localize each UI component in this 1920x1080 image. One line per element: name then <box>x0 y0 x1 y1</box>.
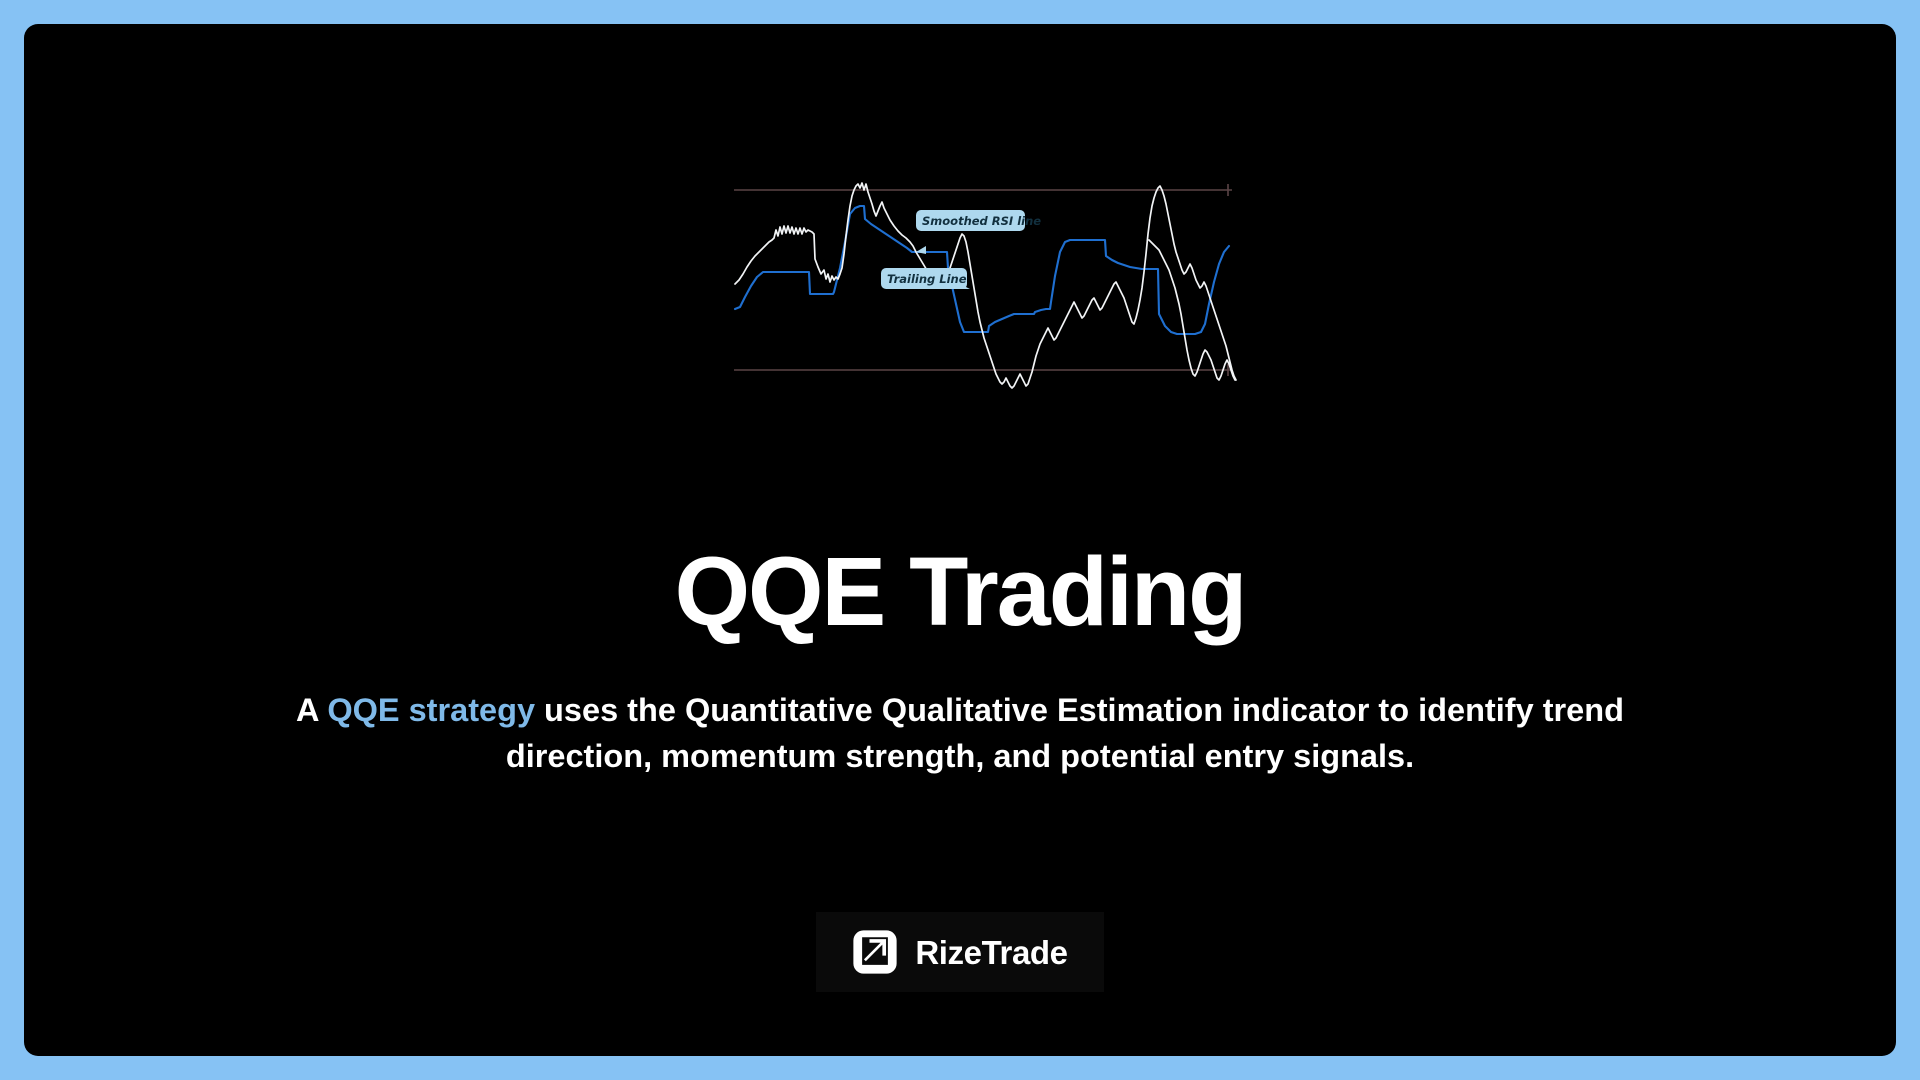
arrow-up-right-rounded-square-icon <box>852 929 898 975</box>
callout-trailing-line-label: Trailing Line <box>887 272 967 286</box>
page-title: QQE Trading <box>24 541 1896 643</box>
brand-logo-lockup: RizeTrade <box>816 912 1104 992</box>
page-subtitle: A QQE strategy uses the Quantitative Qua… <box>295 687 1625 781</box>
slide-frame: Smoothed RSI line Trailing Line QQE Trad… <box>0 0 1920 1080</box>
chart-svg: Smoothed RSI line Trailing Line <box>714 164 1254 404</box>
subtitle-highlight: QQE strategy <box>327 692 535 728</box>
callout-smoothed-rsi-line: Smoothed RSI line <box>916 210 1041 254</box>
callout-trailing-line: Trailing Line <box>881 268 970 289</box>
callout-smoothed-rsi-label: Smoothed RSI line <box>922 214 1041 228</box>
qqe-indicator-chart: Smoothed RSI line Trailing Line <box>714 164 1254 404</box>
subtitle-lead: A <box>296 692 327 728</box>
slide-panel: Smoothed RSI line Trailing Line QQE Trad… <box>24 24 1896 1056</box>
brand-wordmark: RizeTrade <box>915 936 1067 969</box>
subtitle-rest: uses the Quantitative Qualitative Estima… <box>506 692 1624 775</box>
